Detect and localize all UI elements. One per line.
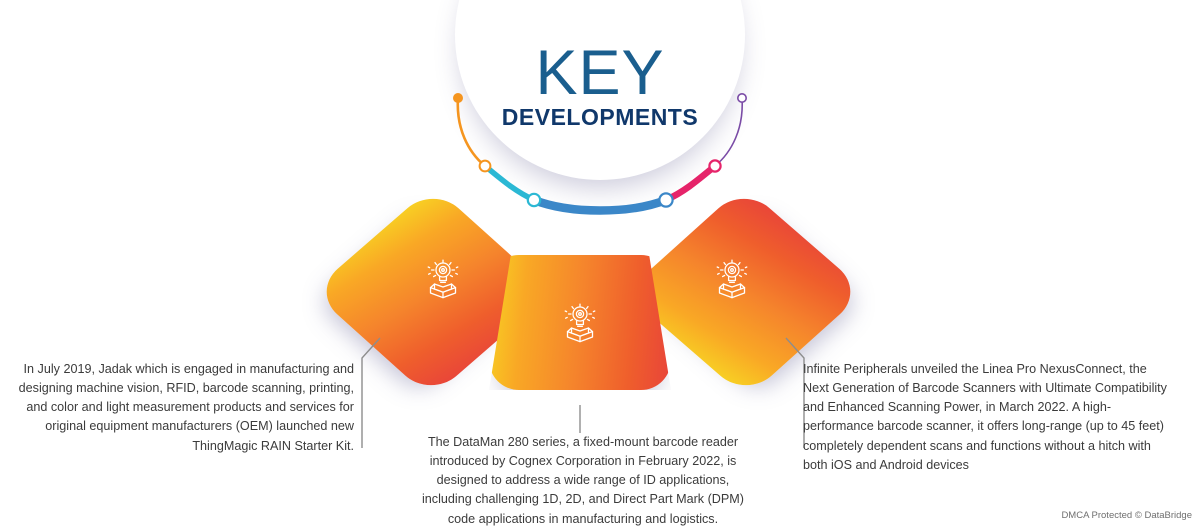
arc-node-cyan bbox=[528, 194, 540, 206]
arc-pink-segment bbox=[666, 166, 715, 200]
description-center: The DataMan 280 series, a fixed-mount ba… bbox=[413, 433, 753, 527]
title-line-developments: DEVELOPMENTS bbox=[455, 106, 745, 129]
arc-node-orange bbox=[480, 161, 491, 172]
leader-line-left bbox=[352, 336, 388, 450]
arc-cyan-segment bbox=[485, 166, 534, 200]
leader-line-center bbox=[574, 404, 586, 434]
petal-center[interactable] bbox=[489, 255, 671, 390]
page-title: KEY DEVELOPMENTS bbox=[455, 44, 745, 129]
footer-watermark: DMCA Protected © DataBridge bbox=[1061, 510, 1192, 521]
title-line-key: KEY bbox=[455, 44, 745, 104]
arc-node-blue bbox=[659, 193, 672, 206]
infographic-canvas: KEY DEVELOPMENTS bbox=[0, 0, 1200, 527]
arc-blue-segment bbox=[534, 200, 666, 211]
description-left: In July 2019, Jadak which is engaged in … bbox=[6, 360, 354, 456]
description-right: Infinite Peripherals unveiled the Linea … bbox=[803, 360, 1171, 475]
arc-node-pink bbox=[709, 160, 720, 171]
